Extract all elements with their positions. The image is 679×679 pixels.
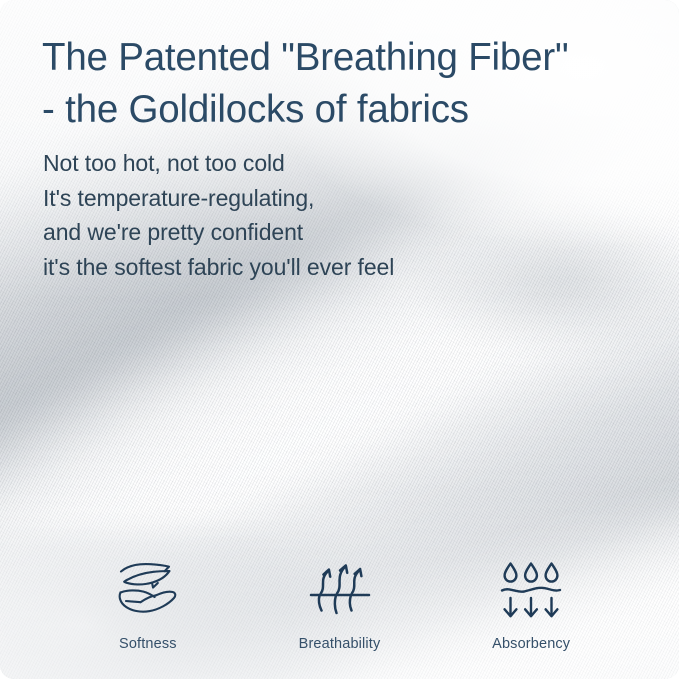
feature-label-absorbency: Absorbency [492,637,570,652]
feature-item-absorbency: Absorbency [435,557,627,652]
feather-on-open-hand-icon [112,557,184,623]
subtitle-text: Not too hot, not too cold It's temperatu… [43,146,513,284]
feature-item-softness: Softness [52,557,244,652]
feature-label-softness: Softness [119,637,177,652]
page-title: The Patented "Breathing Fiber" - the Gol… [42,32,657,136]
product-feature-card: The Patented "Breathing Fiber" - the Gol… [0,0,679,679]
feature-row: Softness [52,557,627,652]
feature-label-breathability: Breathability [299,637,381,652]
feature-item-breathability: Breathability [244,557,436,652]
three-water-drops-absorbed-downward-arrows-icon [495,557,567,623]
three-rising-airflow-arrows-through-fabric-icon [304,557,376,623]
